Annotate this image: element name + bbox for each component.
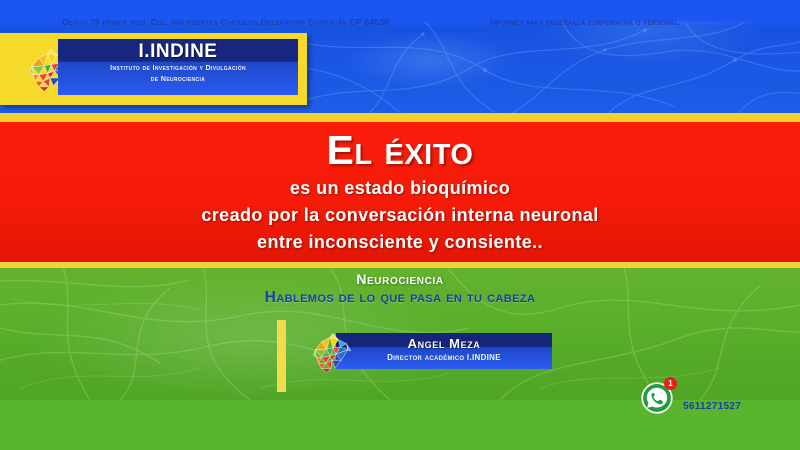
hero-line-4: entre inconsciente y consiente.. (0, 226, 800, 253)
footer-informes-text: Informes para enseñanza corporativa o pe… (490, 18, 681, 27)
brand-bar: I.INDINE Instituto de Investigación y Di… (58, 39, 298, 95)
hero-title: El éxito (0, 122, 800, 171)
speaker-card: Angel Meza Director académico I.INDINE (336, 333, 552, 369)
brain-logo-icon (306, 326, 358, 378)
topic-heading: Neurociencia (0, 271, 800, 287)
logo-panel: I.INDINE Instituto de Investigación y Di… (0, 33, 307, 105)
hero-red-band: El éxito es un estado bioquímico creado … (0, 122, 800, 262)
footer-band (0, 400, 800, 450)
divider-yellow-top (0, 113, 800, 122)
speaker-name: Angel Meza (336, 333, 552, 351)
poster-canvas: I.INDINE Instituto de Investigación y Di… (0, 0, 800, 450)
topic-heading-group: Neurociencia Hablemos de lo que pasa en … (0, 268, 800, 307)
hero-line-2: es un estado bioquímico (0, 171, 800, 199)
brand-tagline-line1: Instituto de Investigación y Divulgación (58, 62, 298, 73)
brand-name: I.INDINE (58, 39, 298, 62)
whatsapp-notification-badge: 1 (664, 377, 677, 390)
whatsapp-contact[interactable]: 1 (640, 381, 674, 415)
accent-vertical-bar (277, 320, 286, 392)
neuron-texture-blue (305, 22, 800, 113)
footer-address: Ocaso 75 primer piso, Col. Insurgentes C… (62, 17, 389, 27)
hero-line-3: creado por la conversación interna neuro… (0, 199, 800, 226)
brand-tagline-line2: de Neurociencia (58, 73, 298, 84)
topic-subheading: Hablemos de lo que pasa en tu cabeza (0, 287, 800, 307)
footer-phone-number[interactable]: 5611271527 (683, 401, 741, 412)
speaker-role: Director académico I.INDINE (336, 351, 552, 362)
